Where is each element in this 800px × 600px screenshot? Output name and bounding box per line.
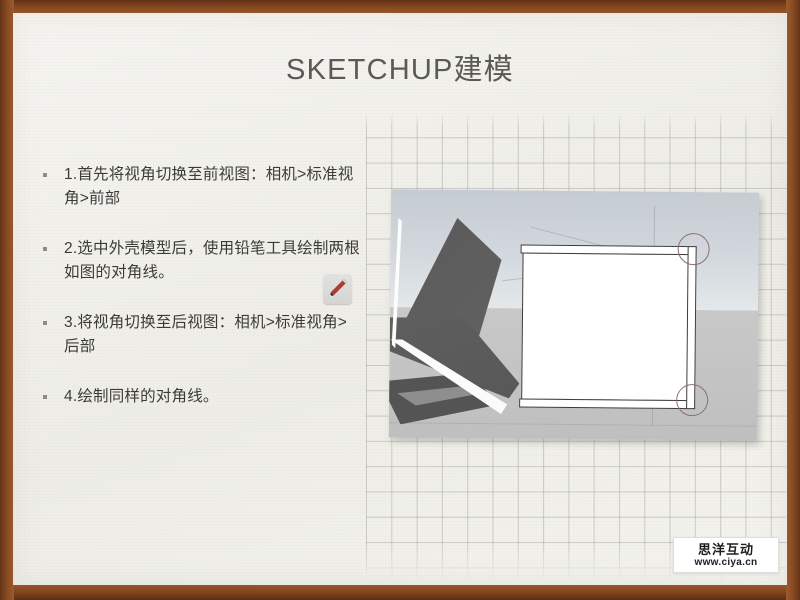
bullet-list: 1.首先将视角切换至前视图：相机>标准视角>前部 2.选中外壳模型后，使用铅笔工… [40, 163, 360, 435]
white-model-face [521, 253, 694, 402]
pencil-tool-button[interactable] [323, 274, 352, 304]
logo-name: 思洋互动 [698, 542, 754, 557]
logo-website: www.ciya.cn [695, 557, 758, 569]
list-item: 3.将视角切换至后视图：相机>标准视角>后部 [40, 311, 360, 359]
list-item: 1.首先将视角切换至前视图：相机>标准视角>前部 [40, 163, 360, 211]
square-bullet-icon [43, 321, 47, 325]
frame-edge-top [0, 0, 800, 14]
list-item-label: 2.选中外壳模型后，使用铅笔工具绘制两根如图的对角线。 [64, 237, 360, 285]
list-item-label: 4.绘制同样的对角线。 [64, 385, 219, 409]
list-item: 4.绘制同样的对角线。 [40, 385, 360, 409]
white-model-top [521, 244, 697, 255]
sketchup-viewport [389, 189, 759, 441]
white-model-bottom [519, 398, 695, 409]
frame-edge-right [786, 0, 800, 600]
frame-edge-left [0, 0, 14, 600]
square-bullet-icon [43, 173, 47, 177]
square-bullet-icon [43, 247, 47, 251]
company-logo: 思洋互动 www.ciya.cn [673, 537, 779, 573]
list-item: 2.选中外壳模型后，使用铅笔工具绘制两根如图的对角线。 [40, 237, 360, 285]
square-bullet-icon [43, 395, 47, 399]
slide-paper: SKETCHUP建模 1.首先将视角切换至前视图：相机>标准视角>前部 2.选中… [13, 13, 787, 585]
list-item-label: 3.将视角切换至后视图：相机>标准视角>后部 [64, 311, 360, 359]
frame-edge-bottom [0, 585, 800, 600]
snap-endpoint-circle-bottom [676, 384, 708, 416]
slide-root: SKETCHUP建模 1.首先将视角切换至前视图：相机>标准视角>前部 2.选中… [0, 0, 800, 600]
page-title: SKETCHUP建模 [13, 46, 787, 88]
pencil-icon [326, 277, 349, 301]
snap-endpoint-circle-top [677, 233, 709, 265]
list-item-label: 1.首先将视角切换至前视图：相机>标准视角>前部 [64, 163, 360, 211]
